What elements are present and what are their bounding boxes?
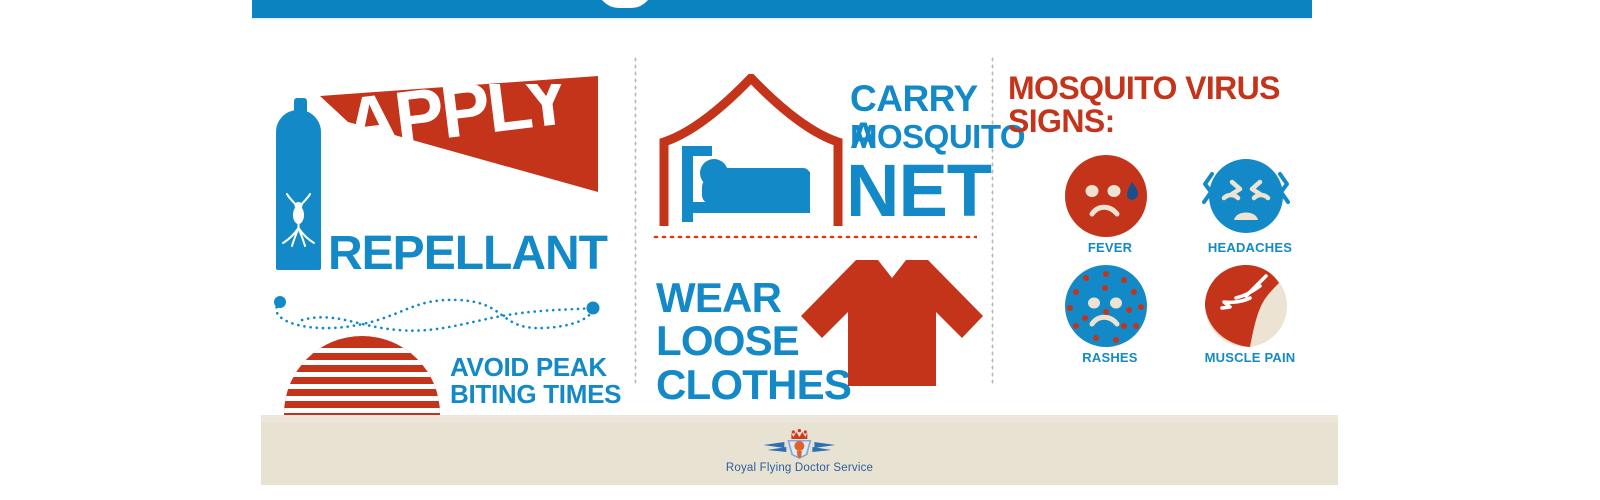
spotted-sad-face-icon bbox=[1062, 262, 1150, 350]
symptom-muscle-pain: MUSCLE PAIN bbox=[1190, 262, 1310, 372]
symptom-label-muscle-pain: MUSCLE PAIN bbox=[1178, 350, 1322, 365]
pained-face-icon bbox=[1202, 152, 1290, 240]
flight-dot-end bbox=[587, 302, 600, 315]
crown-shape bbox=[792, 429, 808, 439]
footer-bar: Royal Flying Doctor Service bbox=[261, 415, 1338, 485]
apply-text: APPLY bbox=[348, 84, 576, 166]
virus-signs-title-line-2: SIGNS: bbox=[1008, 105, 1280, 138]
infographic-page: APPLY REPELLANT bbox=[0, 0, 1600, 500]
virus-signs-title: MOSQUITO VIRUS SIGNS: bbox=[1008, 72, 1280, 137]
band-shadow bbox=[252, 18, 1312, 21]
symptom-rashes: RASHES bbox=[1050, 262, 1170, 372]
avoid-line-1: AVOID PEAK bbox=[450, 354, 621, 381]
mosquito-net-bed-icon bbox=[656, 74, 846, 232]
rfds-organisation-name: Royal Flying Doctor Service bbox=[726, 462, 873, 474]
symptom-fever: FEVER bbox=[1050, 152, 1170, 262]
net-word-heading: NET bbox=[846, 154, 991, 228]
symptom-grid: FEVER bbox=[1050, 152, 1310, 372]
column-apply-repellant: APPLY REPELLANT bbox=[262, 58, 622, 388]
footer-top-edge bbox=[261, 415, 1338, 422]
winged-crown-emblem-icon bbox=[763, 429, 837, 459]
long-sleeve-shirt-icon bbox=[800, 254, 985, 389]
symptom-label-fever: FEVER bbox=[1038, 240, 1182, 255]
apply-word-graphic: APPLY bbox=[348, 84, 598, 184]
symptom-label-headaches: HEADACHES bbox=[1178, 240, 1322, 255]
bed-shape bbox=[682, 146, 810, 222]
mosquito-silhouette-icon bbox=[276, 188, 321, 248]
repellant-heading: REPELLANT bbox=[328, 230, 607, 278]
band-notch-shape bbox=[597, 0, 653, 8]
rfds-branding: Royal Flying Doctor Service bbox=[726, 429, 873, 474]
column-divider-right bbox=[991, 56, 994, 386]
avoid-line-2: BITING TIMES bbox=[450, 381, 621, 408]
sun-disc bbox=[284, 336, 440, 416]
symptom-label-rashes: RASHES bbox=[1038, 350, 1182, 365]
sad-face-sweating-icon bbox=[1062, 152, 1150, 240]
top-blue-band bbox=[252, 0, 1312, 18]
column-virus-signs: MOSQUITO VIRUS SIGNS: FEVER bbox=[1008, 72, 1308, 382]
virus-signs-title-line-1: MOSQUITO VIRUS bbox=[1008, 72, 1280, 105]
column-net-and-clothes: CARRY A MOSQUITO NET WEAR LOOSE CLOTHES bbox=[650, 58, 985, 388]
column-divider-left bbox=[634, 56, 637, 386]
avoid-peak-biting-times-heading: AVOID PEAK BITING TIMES bbox=[450, 354, 621, 409]
flight-dot-start bbox=[274, 296, 286, 308]
sore-muscle-icon bbox=[1202, 262, 1290, 350]
symptom-headaches: HEADACHES bbox=[1190, 152, 1310, 262]
